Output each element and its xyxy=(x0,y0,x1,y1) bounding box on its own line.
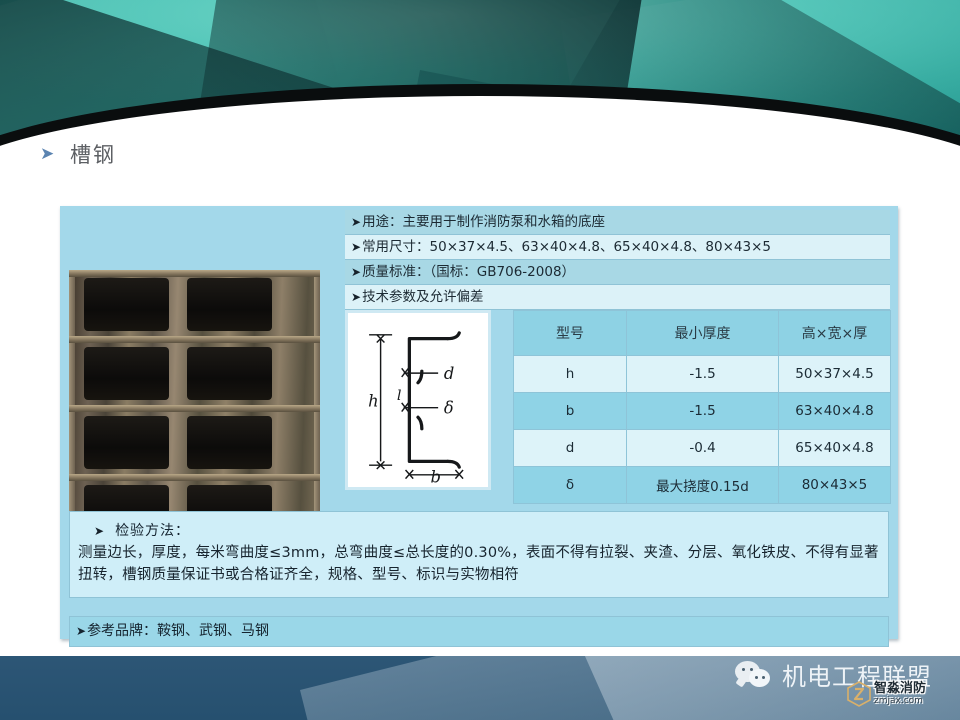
spec-row-parameters-text: 技术参数及允许偏差 xyxy=(362,289,484,305)
watermark-text: 智淼消防 xyxy=(874,682,926,695)
svg-text:b: b xyxy=(430,467,440,486)
channel-steel-photo xyxy=(69,270,320,546)
table-row: h -1.5 50×37×4.5 xyxy=(514,356,891,393)
tech-parameters-table: 型号 最小厚度 高×宽×厚 h -1.5 50×37×4.5 b -1.5 63… xyxy=(513,310,891,504)
spec-row-standard-text: 质量标准：（国标：GB706-2008） xyxy=(362,264,575,280)
spec-row-sizes: ➤常用尺寸：50×37×4.5、63×40×4.8、65×40×4.8、80×4… xyxy=(345,235,890,260)
svg-text:δ: δ xyxy=(444,398,454,417)
table-cell-model: d xyxy=(514,430,627,467)
inspection-method-title-text: 检验方法： xyxy=(115,523,190,539)
reference-brands-row: ➤参考品牌：鞍钢、武钢、马钢 xyxy=(69,616,889,647)
inspection-method-block: ➤检验方法： 测量边长，厚度，每米弯曲度≤3mm，总弯曲度≤总长度的0.30%，… xyxy=(69,511,889,598)
reference-brands-text: 参考品牌：鞍钢、武钢、马钢 xyxy=(87,623,269,639)
spec-row-parameters: ➤技术参数及允许偏差 xyxy=(345,285,890,310)
arrow-bullet-icon: ➤ xyxy=(351,215,361,229)
table-cell-min-thickness: -1.5 xyxy=(627,356,779,393)
svg-text:l: l xyxy=(397,388,402,404)
table-row: δ 最大挠度0.15d 80×43×5 xyxy=(514,467,891,504)
arrow-bullet-icon: ➤ xyxy=(351,240,361,254)
svg-text:h: h xyxy=(368,392,379,411)
watermark-url: zmjax.com xyxy=(874,697,926,706)
table-row: d -0.4 65×40×4.8 xyxy=(514,430,891,467)
table-cell-dimensions: 63×40×4.8 xyxy=(779,393,891,430)
table-cell-dimensions: 65×40×4.8 xyxy=(779,430,891,467)
table-cell-model: δ xyxy=(514,467,627,504)
table-cell-dimensions: 50×37×4.5 xyxy=(779,356,891,393)
spec-row-usage: ➤用途：主要用于制作消防泵和水箱的底座 xyxy=(345,210,890,235)
spec-row-sizes-text: 常用尺寸：50×37×4.5、63×40×4.8、65×40×4.8、80×43… xyxy=(362,239,771,255)
slide: ➤ 槽钢 ➤用途：主要用于制作消防泵和水箱的底座 ➤常用尺寸：50×37×4.5… xyxy=(0,0,960,720)
arrow-bullet-icon: ➤ xyxy=(76,624,86,638)
table-cell-model: b xyxy=(514,393,627,430)
wechat-icon xyxy=(735,661,773,689)
watermark: 智淼消防 zmjax.com xyxy=(846,681,926,707)
table-cell-dimensions: 80×43×5 xyxy=(779,467,891,504)
arrow-bullet-icon: ➤ xyxy=(351,265,361,279)
spec-rows: ➤用途：主要用于制作消防泵和水箱的底座 ➤常用尺寸：50×37×4.5、63×4… xyxy=(345,210,890,310)
svg-text:d: d xyxy=(444,364,454,383)
arrow-bullet-icon: ➤ xyxy=(351,290,361,304)
table-row: b -1.5 63×40×4.8 xyxy=(514,393,891,430)
table-header-dimensions: 高×宽×厚 xyxy=(779,311,891,356)
inspection-method-body: 测量边长，厚度，每米弯曲度≤3mm，总弯曲度≤总长度的0.30%，表面不得有拉裂… xyxy=(78,543,880,587)
table-header-row: 型号 最小厚度 高×宽×厚 xyxy=(514,311,891,356)
arrow-bullet-icon: ➤ xyxy=(40,146,58,162)
content-panel: ➤用途：主要用于制作消防泵和水箱的底座 ➤常用尺寸：50×37×4.5、63×4… xyxy=(60,206,898,639)
page-title: ➤ 槽钢 xyxy=(40,139,116,169)
page-title-text: 槽钢 xyxy=(70,139,116,169)
table-cell-model: h xyxy=(514,356,627,393)
spec-row-standard: ➤质量标准：（国标：GB706-2008） xyxy=(345,260,890,285)
spec-row-usage-text: 用途：主要用于制作消防泵和水箱的底座 xyxy=(362,214,605,230)
arrow-bullet-icon: ➤ xyxy=(94,524,105,538)
cross-section-diagram: h b d δ l xyxy=(345,310,491,490)
table-header-model: 型号 xyxy=(514,311,627,356)
inspection-method-title: ➤检验方法： xyxy=(94,520,880,540)
table-cell-min-thickness: -0.4 xyxy=(627,430,779,467)
watermark-logo-icon xyxy=(846,681,872,707)
table-cell-min-thickness: 最大挠度0.15d xyxy=(627,467,779,504)
table-header-min-thickness: 最小厚度 xyxy=(627,311,779,356)
table-cell-min-thickness: -1.5 xyxy=(627,393,779,430)
